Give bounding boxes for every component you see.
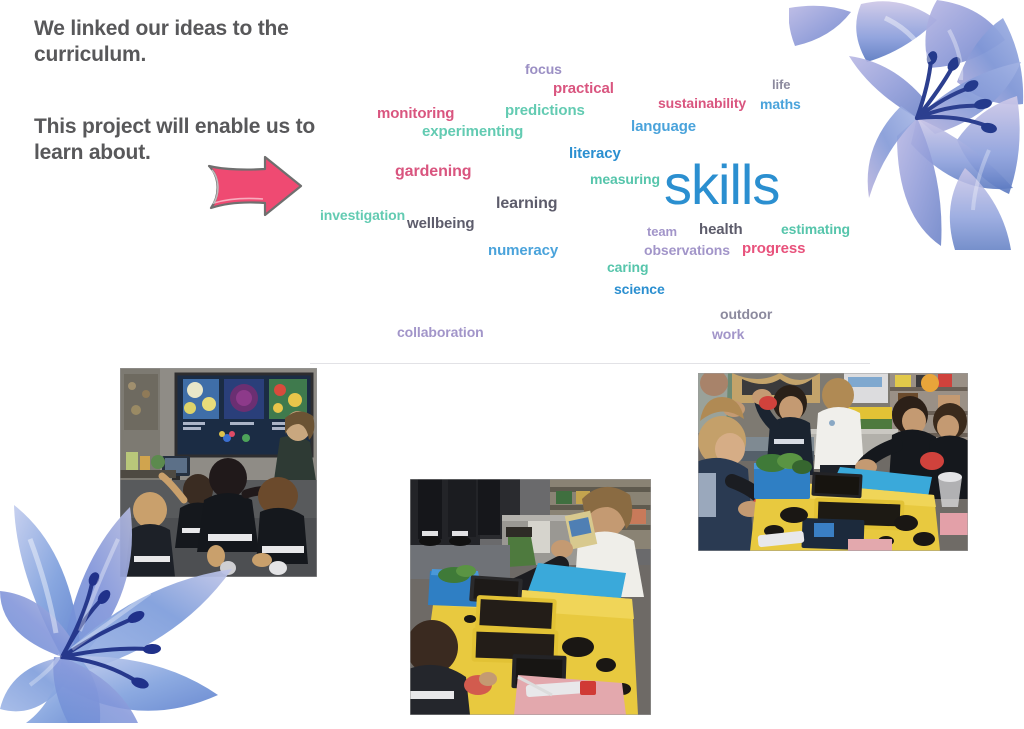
- word-cloud-term: sustainability: [658, 96, 746, 110]
- photo-children-at-whiteboard: [120, 368, 317, 577]
- heading-block: We linked our ideas to the curriculum. T…: [34, 16, 324, 166]
- photo-child-planting-seed-trays: [410, 479, 651, 715]
- word-cloud-term: caring: [607, 260, 648, 274]
- word-cloud-term: maths: [760, 97, 801, 111]
- word-cloud-term: monitoring: [377, 106, 454, 121]
- right-arrow-icon: [203, 152, 307, 220]
- word-cloud-term: progress: [742, 241, 805, 256]
- word-cloud-term: learning: [496, 196, 557, 212]
- heading-paragraph-1: We linked our ideas to the curriculum.: [34, 16, 324, 68]
- word-cloud-term: team: [647, 225, 677, 238]
- word-cloud-term: predictions: [505, 103, 585, 118]
- word-cloud-term: observations: [644, 243, 730, 257]
- content-divider: [310, 363, 870, 364]
- word-cloud-term: practical: [553, 81, 614, 96]
- word-cloud-term: focus: [525, 62, 562, 76]
- word-cloud-term: literacy: [569, 146, 621, 161]
- word-cloud-term: collaboration: [397, 325, 484, 339]
- word-cloud-term: science: [614, 282, 665, 296]
- word-cloud-term: work: [712, 327, 744, 341]
- word-cloud-term: measuring: [590, 172, 660, 186]
- word-cloud-term: outdoor: [720, 307, 772, 321]
- word-cloud-term: experimenting: [422, 124, 523, 139]
- word-cloud-term: language: [631, 119, 696, 134]
- word-cloud-term: gardening: [395, 164, 471, 180]
- word-cloud-term: wellbeing: [407, 216, 474, 231]
- word-cloud-term: life: [772, 78, 790, 91]
- word-cloud-term: skills: [664, 157, 779, 213]
- photo-class-planting-activity: [698, 373, 968, 551]
- word-cloud-term: numeracy: [488, 243, 558, 258]
- word-cloud: focuspracticalpredictionssustainabilityl…: [300, 50, 900, 350]
- word-cloud-term: estimating: [781, 222, 850, 236]
- word-cloud-term: investigation: [320, 208, 405, 222]
- word-cloud-term: health: [699, 222, 743, 237]
